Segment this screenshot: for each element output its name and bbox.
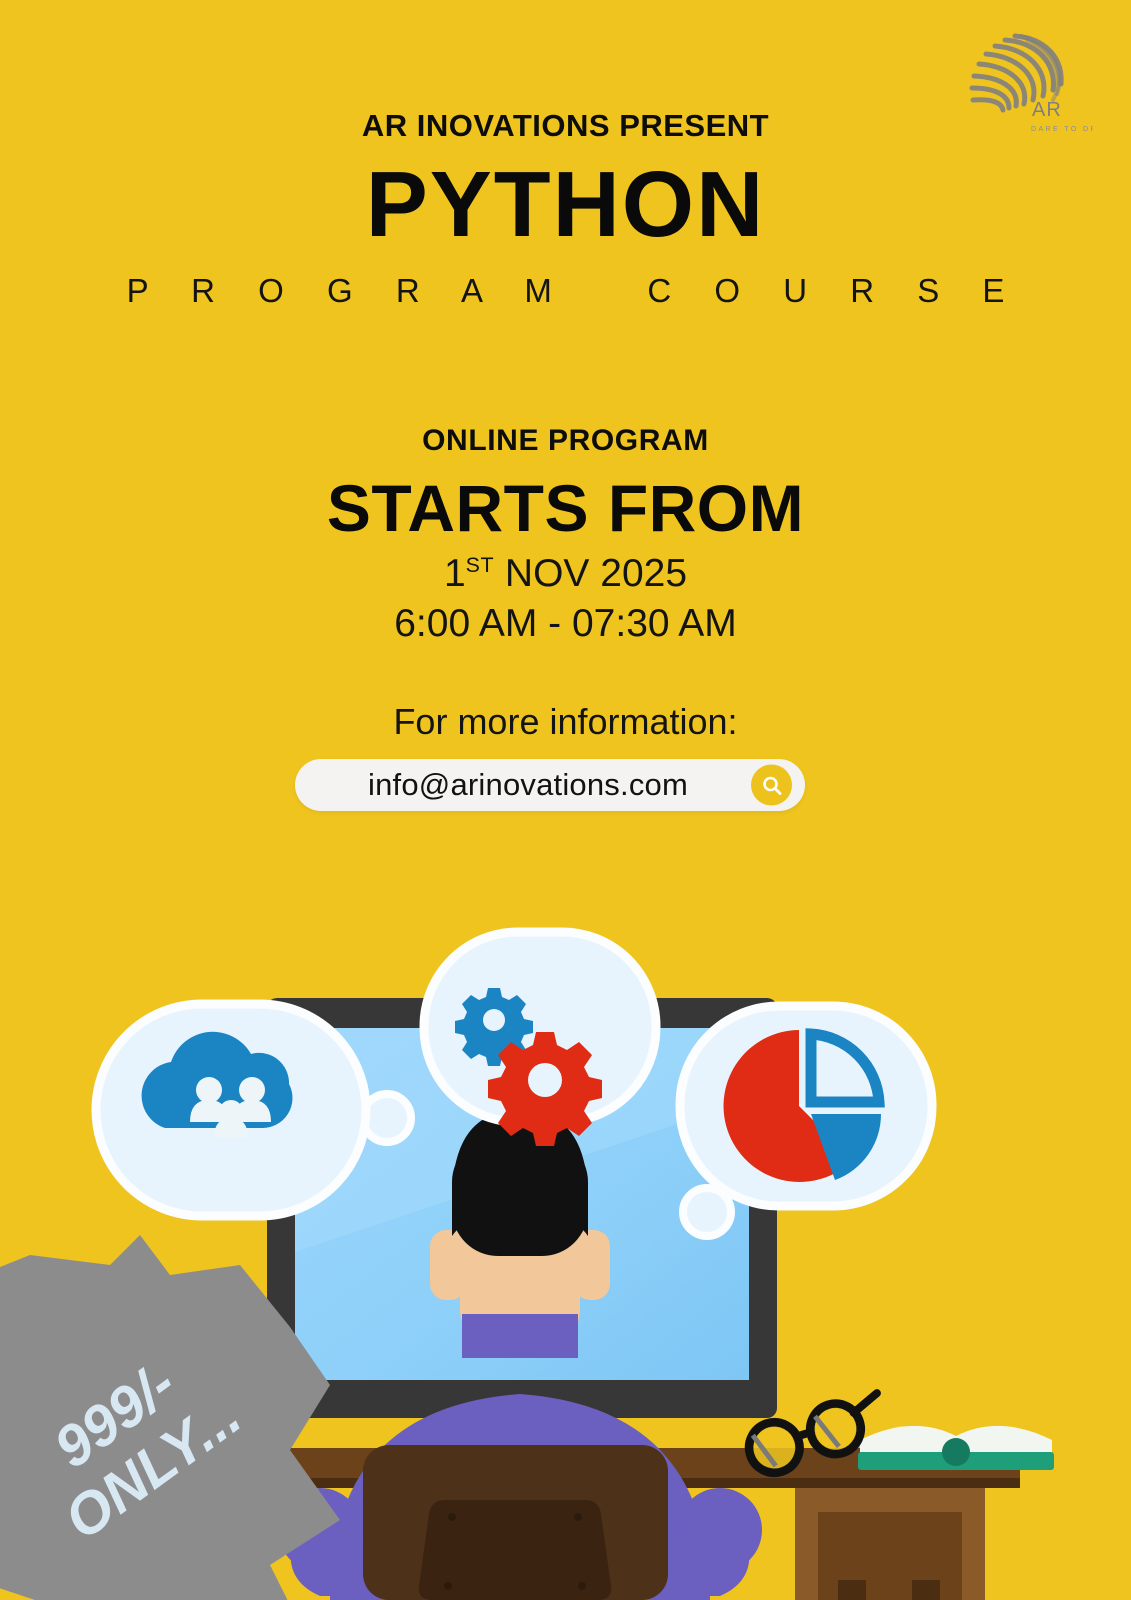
course-subtitle: P R O G R A M C O U R S E [0,272,1131,310]
date-rest: NOV 2025 [494,552,687,595]
email-address: info@arinovations.com [368,767,688,803]
event-time: 6:00 AM - 07:30 AM [0,602,1131,646]
more-info-label: For more information: [0,701,1131,743]
search-button[interactable] [751,765,792,806]
office-chair [363,1445,668,1600]
presenter-line: AR INOVATIONS PRESENT [0,108,1131,144]
starts-from-label: STARTS FROM [0,472,1131,545]
date-ordinal: ST [466,553,494,577]
program-mode-label: ONLINE PROGRAM [0,424,1131,458]
bubble-pie-chart [680,1006,932,1236]
page-title: PYTHON [0,158,1131,251]
email-search-bar[interactable]: info@arinovations.com [295,759,805,811]
open-book-icon [858,1426,1054,1470]
event-date: 1ST NOV 2025 [0,552,1131,596]
price-badge: 999/- ONLY... [0,1235,340,1600]
date-day: 1 [444,552,466,595]
search-icon [760,773,784,797]
poster-canvas: AR DARE TO DREAM AR INOVATIONS PRESENT P… [0,0,1131,1600]
